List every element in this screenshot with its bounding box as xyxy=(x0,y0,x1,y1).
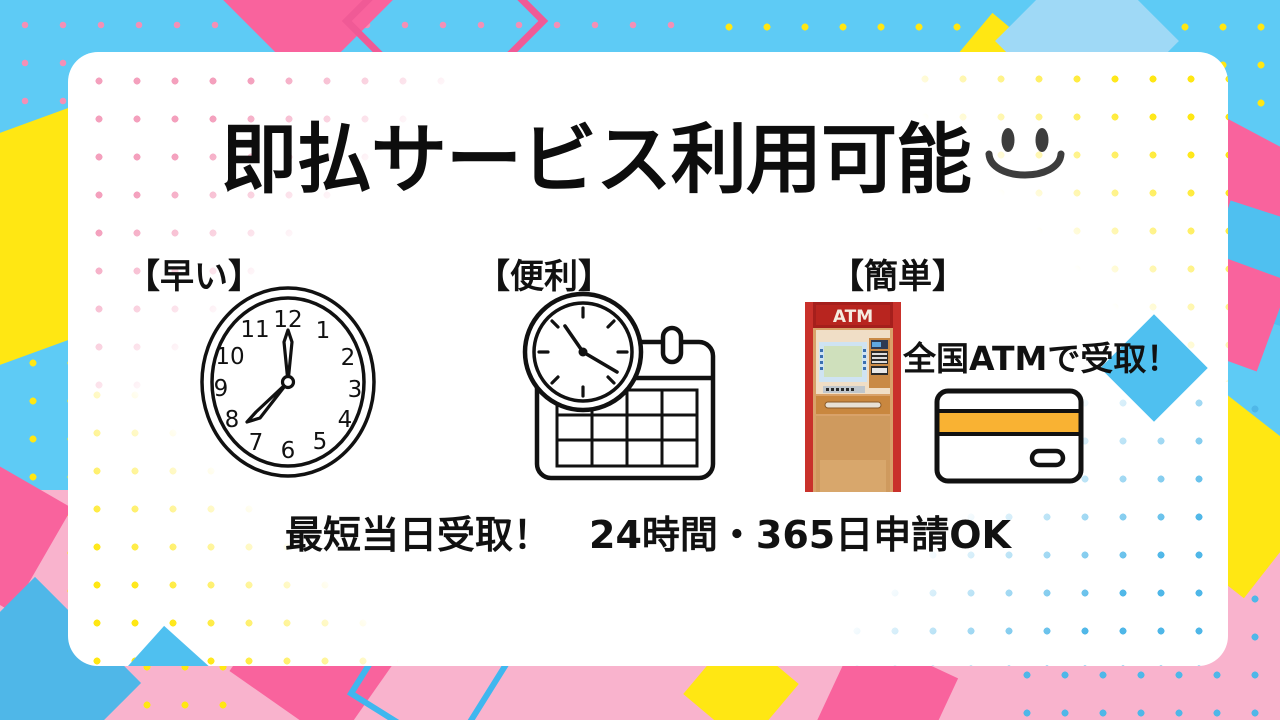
credit-card-icon xyxy=(933,387,1085,485)
svg-text:11: 11 xyxy=(240,317,269,343)
poster-title: 即払サービス利用可能 xyxy=(68,112,1228,208)
svg-text:6: 6 xyxy=(281,438,296,464)
svg-text:4: 4 xyxy=(338,407,353,433)
calendar-clock-icon xyxy=(513,290,725,484)
poster-title-text: 即払サービス利用可能 xyxy=(221,118,971,202)
svg-text:7: 7 xyxy=(249,430,264,456)
svg-text:3: 3 xyxy=(348,377,363,403)
svg-text:9: 9 xyxy=(214,376,229,402)
content-card: 即払サービス利用可能 【早い】 【便利】 【簡単】 12 1 xyxy=(68,52,1228,666)
footer-note-text: 最短当日受取！ 24時間・365日申請OK xyxy=(68,504,1228,559)
atm-sign-text: ATM xyxy=(833,307,873,327)
atm-note-text: 全国ATMで受取！ xyxy=(903,332,1179,380)
svg-text:2: 2 xyxy=(341,345,356,371)
svg-text:10: 10 xyxy=(215,344,244,370)
svg-text:8: 8 xyxy=(225,407,240,433)
atm-machine-icon: ATM xyxy=(803,300,903,494)
svg-text:1: 1 xyxy=(316,318,331,344)
feature-label-easy: 【簡単】 xyxy=(830,249,966,298)
poster-canvas: 即払サービス利用可能 【早い】 【便利】 【簡単】 12 1 xyxy=(0,0,1280,720)
wall-clock-icon: 12 1 2 3 4 5 6 7 8 9 10 11 xyxy=(198,284,378,480)
svg-text:5: 5 xyxy=(313,429,328,455)
smiley-face-icon xyxy=(975,118,1075,208)
